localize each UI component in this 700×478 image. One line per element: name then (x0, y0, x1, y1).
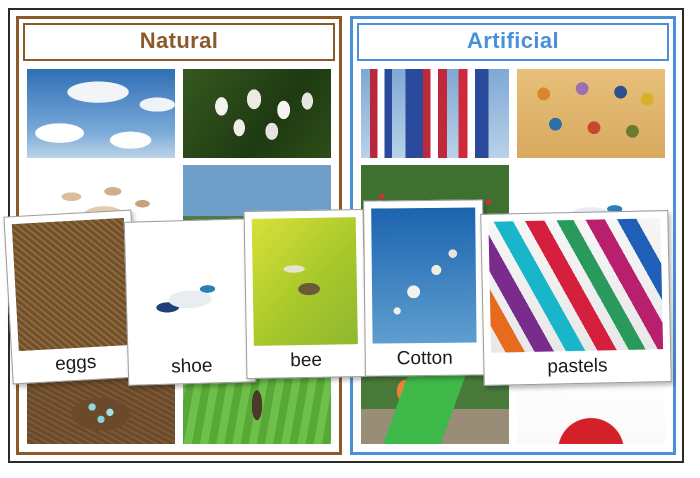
nest-with-eggs-photo (12, 218, 131, 351)
card-pastels[interactable]: pastels (480, 210, 672, 386)
card-pastels-label: pastels (491, 349, 664, 385)
cell-sky[interactable] (27, 69, 175, 158)
card-cotton-label: Cotton (373, 342, 477, 375)
card-eggs-label: eggs (19, 345, 133, 383)
ceramic-bowls-photo (517, 69, 665, 158)
card-cotton[interactable]: Cotton (363, 199, 485, 376)
cell-flags[interactable] (361, 69, 509, 158)
cell-mushrooms[interactable] (183, 69, 331, 158)
card-bee[interactable]: bee (244, 209, 367, 379)
mushrooms-photo (183, 69, 331, 158)
cotton-plant-photo (371, 207, 476, 343)
cell-bowls[interactable] (517, 69, 665, 158)
panel-natural-title: Natural (23, 23, 335, 61)
running-shoe-photo (132, 226, 247, 352)
card-bee-label: bee (254, 344, 359, 378)
card-eggs[interactable]: eggs (3, 210, 140, 385)
flags-photo (361, 69, 509, 158)
card-shoe-label: shoe (135, 349, 248, 384)
card-shoe[interactable]: shoe (124, 218, 257, 386)
screenshot-canvas: Natural Artificial (0, 0, 700, 478)
bee-photo (252, 217, 358, 346)
panel-artificial-title: Artificial (357, 23, 669, 61)
sky-clouds-photo (27, 69, 175, 158)
pastel-sticks-photo (488, 218, 663, 353)
